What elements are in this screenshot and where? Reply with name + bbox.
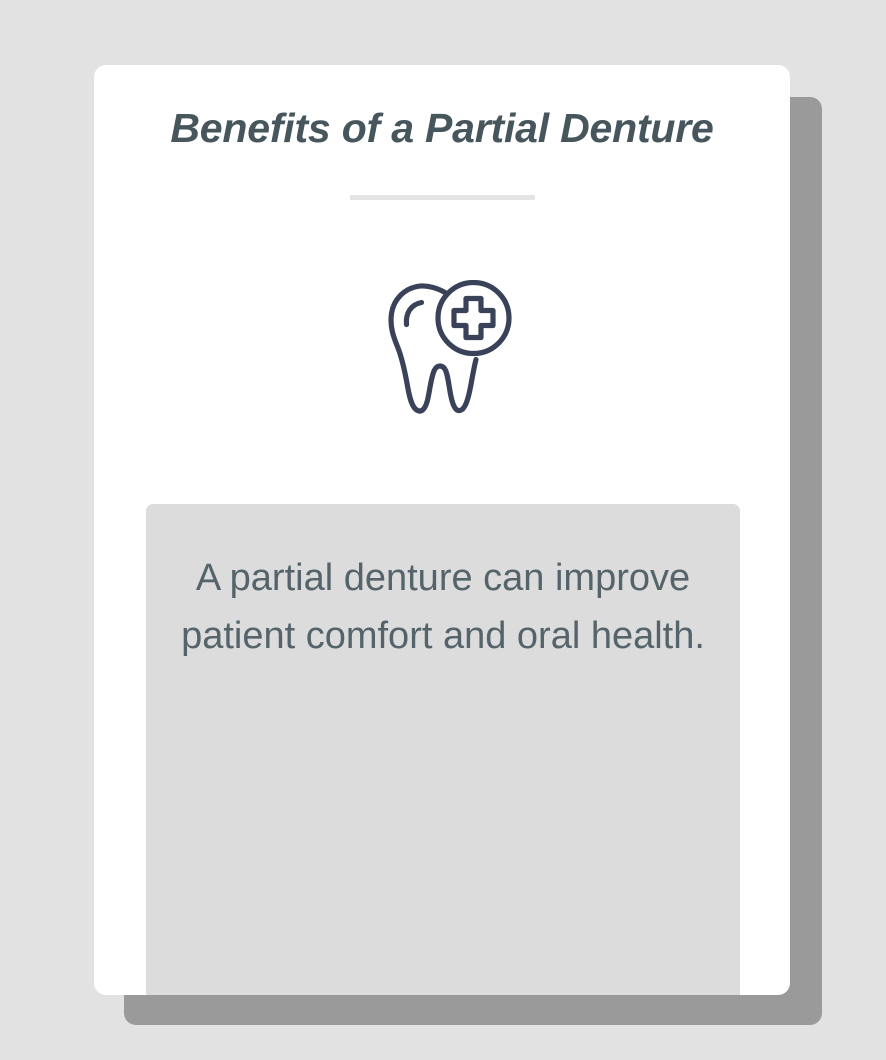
page-title: Benefits of a Partial Denture [94, 105, 790, 152]
title-divider [350, 195, 535, 200]
page-root: Benefits of a Partial Denture [0, 0, 886, 1060]
description-text: A partial denture can improve patient co… [174, 549, 712, 665]
content-card: Benefits of a Partial Denture [94, 65, 790, 995]
description-panel: A partial denture can improve patient co… [146, 504, 740, 995]
tooth-with-medical-cross-icon [383, 280, 513, 418]
